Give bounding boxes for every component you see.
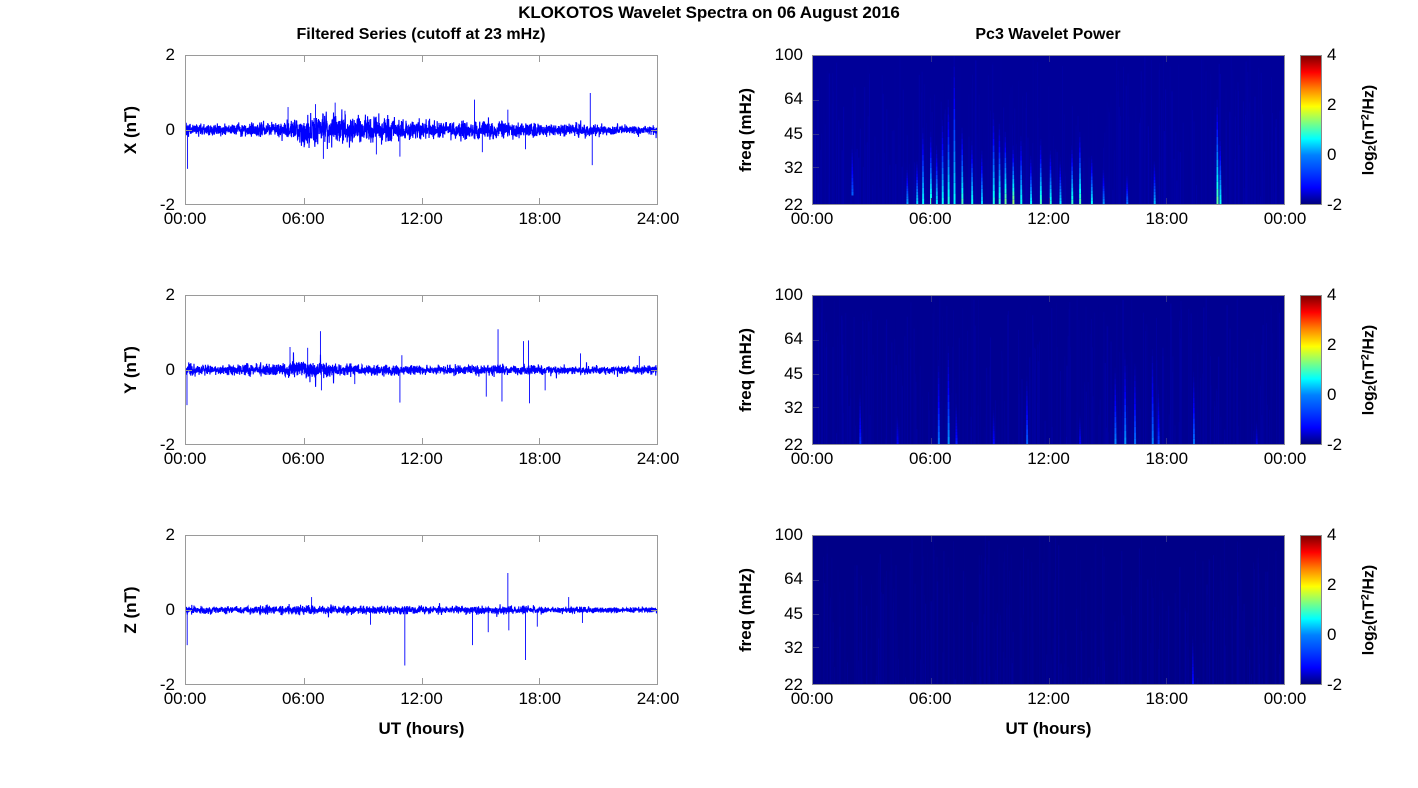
timeseries-axes-x (185, 55, 658, 205)
xtick-top (931, 56, 932, 62)
colorbar-label-y: log2(nT2/Hz) (1360, 325, 1379, 415)
xtick-bottom (422, 678, 423, 684)
timeseries-ylabel-x: X (nT) (121, 106, 141, 154)
colorbar-label-z: log2(nT2/Hz) (1360, 565, 1379, 655)
xtick-top (1166, 536, 1167, 542)
xtick-bottom (931, 438, 932, 444)
colorbar-tick-label: 2 (1327, 335, 1336, 355)
wavelet-image-y (813, 296, 1284, 444)
xtick-top (304, 536, 305, 542)
xtick-label: 18:00 (1145, 689, 1188, 709)
ytick-label: 0 (166, 600, 175, 620)
freq-tick-label: 45 (784, 364, 803, 384)
freq-tick-label: 64 (784, 89, 803, 109)
xtick-label: 00:00 (791, 449, 834, 469)
colorbar-tick-label: 2 (1327, 95, 1336, 115)
xtick-label: 12:00 (400, 689, 443, 709)
wavelet-ylabel-z: freq (mHz) (736, 568, 756, 652)
ytick-label: 2 (166, 525, 175, 545)
xtick-bottom (931, 678, 932, 684)
timeseries-trace-z (186, 536, 657, 684)
timeseries-xlabel: UT (hours) (379, 719, 465, 739)
ytick-left (813, 614, 819, 615)
ytick-left (813, 580, 819, 581)
xtick-bottom (1049, 438, 1050, 444)
xtick-label: 24:00 (637, 689, 680, 709)
xtick-top (1049, 296, 1050, 302)
xtick-label: 18:00 (1145, 209, 1188, 229)
colorbar-tick-label: 4 (1327, 45, 1336, 65)
timeseries-ylabel-z: Z (nT) (121, 586, 141, 633)
colorbar-tick-label: 0 (1327, 145, 1336, 165)
freq-tick-label: 64 (784, 569, 803, 589)
colorbar-tick-label: -2 (1327, 195, 1342, 215)
xtick-bottom (422, 438, 423, 444)
ytick-right (651, 130, 657, 131)
timeseries-ylabel-y: Y (nT) (121, 346, 141, 394)
xtick-bottom (539, 678, 540, 684)
xtick-label: 12:00 (1027, 689, 1070, 709)
colorbar-label-x: log2(nT2/Hz) (1360, 85, 1379, 175)
ytick-left (186, 370, 192, 371)
colorbar-tick-label: 0 (1327, 625, 1336, 645)
ytick-left (186, 130, 192, 131)
freq-tick-label: 100 (775, 45, 803, 65)
xtick-label: 00:00 (164, 689, 207, 709)
spike-group (187, 573, 582, 666)
xtick-label: 12:00 (400, 449, 443, 469)
xtick-bottom (1166, 438, 1167, 444)
xtick-top (539, 536, 540, 542)
wavelet-image-z (813, 536, 1284, 684)
left-column-title: Filtered Series (cutoff at 23 mHz) (297, 26, 546, 44)
ytick-left (186, 610, 192, 611)
freq-tick-label: 32 (784, 638, 803, 658)
freq-tick-label: 100 (775, 525, 803, 545)
colorbar-x (1300, 55, 1322, 205)
xtick-label: 12:00 (400, 209, 443, 229)
ytick-left (813, 407, 819, 408)
colorbar-tick-label: -2 (1327, 435, 1342, 455)
xtick-label: 18:00 (518, 209, 561, 229)
colorbar-z (1300, 535, 1322, 685)
freq-tick-label: 32 (784, 398, 803, 418)
xtick-bottom (539, 438, 540, 444)
xtick-top (1166, 296, 1167, 302)
xtick-label: 12:00 (1027, 209, 1070, 229)
xtick-label: 06:00 (909, 689, 952, 709)
xtick-bottom (539, 198, 540, 204)
freq-tick-label: 45 (784, 124, 803, 144)
colorbar-tick-label: 0 (1327, 385, 1336, 405)
xtick-label: 18:00 (518, 449, 561, 469)
ytick-label: 0 (166, 360, 175, 380)
xtick-label: 00:00 (791, 209, 834, 229)
right-column-title: Pc3 Wavelet Power (975, 26, 1120, 44)
xtick-label: 00:00 (164, 209, 207, 229)
xtick-bottom (1166, 678, 1167, 684)
ytick-left (813, 647, 819, 648)
xtick-top (539, 56, 540, 62)
ytick-label: 0 (166, 120, 175, 140)
xtick-label: 00:00 (1264, 689, 1307, 709)
ytick-left (813, 100, 819, 101)
wavelet-image-x (813, 56, 1284, 204)
xtick-top (1049, 56, 1050, 62)
timeseries-trace-x (186, 56, 657, 204)
ytick-left (813, 340, 819, 341)
xtick-label: 06:00 (909, 449, 952, 469)
timeseries-trace-y (186, 296, 657, 444)
figure-title: KLOKOTOS Wavelet Spectra on 06 August 20… (0, 3, 1418, 23)
wavelet-ylabel-x: freq (mHz) (736, 88, 756, 172)
wavelet-axes-x (812, 55, 1285, 205)
xtick-bottom (1166, 198, 1167, 204)
wavelet-xlabel: UT (hours) (1006, 719, 1092, 739)
xtick-top (1166, 56, 1167, 62)
figure-canvas: KLOKOTOS Wavelet Spectra on 06 August 20… (0, 0, 1418, 788)
xtick-label: 18:00 (518, 689, 561, 709)
colorbar-tick-label: 4 (1327, 285, 1336, 305)
ytick-left (813, 167, 819, 168)
xtick-bottom (304, 198, 305, 204)
xtick-bottom (1049, 678, 1050, 684)
xtick-top (422, 296, 423, 302)
xtick-label: 24:00 (637, 449, 680, 469)
timeseries-axes-y (185, 295, 658, 445)
xtick-top (931, 536, 932, 542)
xtick-label: 06:00 (282, 449, 325, 469)
ytick-label: 2 (166, 45, 175, 65)
xtick-top (539, 296, 540, 302)
ytick-right (651, 610, 657, 611)
xtick-label: 18:00 (1145, 449, 1188, 469)
freq-tick-label: 100 (775, 285, 803, 305)
xtick-label: 06:00 (282, 689, 325, 709)
xtick-top (422, 56, 423, 62)
wavelet-axes-z (812, 535, 1285, 685)
xtick-label: 00:00 (1264, 449, 1307, 469)
xtick-top (1049, 536, 1050, 542)
xtick-label: 24:00 (637, 209, 680, 229)
xtick-label: 06:00 (909, 209, 952, 229)
ytick-left (813, 374, 819, 375)
xtick-label: 00:00 (791, 689, 834, 709)
xtick-label: 00:00 (1264, 209, 1307, 229)
xtick-top (304, 56, 305, 62)
colorbar-y (1300, 295, 1322, 445)
ytick-left (813, 134, 819, 135)
colorbar-tick-label: 4 (1327, 525, 1336, 545)
xtick-label: 00:00 (164, 449, 207, 469)
ytick-label: 2 (166, 285, 175, 305)
xtick-bottom (304, 438, 305, 444)
xtick-bottom (422, 198, 423, 204)
xtick-top (304, 296, 305, 302)
xtick-bottom (1049, 198, 1050, 204)
colorbar-tick-label: 2 (1327, 575, 1336, 595)
wavelet-axes-y (812, 295, 1285, 445)
wavelet-ylabel-y: freq (mHz) (736, 328, 756, 412)
freq-tick-label: 64 (784, 329, 803, 349)
xtick-top (422, 536, 423, 542)
xtick-bottom (304, 678, 305, 684)
xtick-label: 12:00 (1027, 449, 1070, 469)
xtick-label: 06:00 (282, 209, 325, 229)
colorbar-tick-label: -2 (1327, 675, 1342, 695)
timeseries-axes-z (185, 535, 658, 685)
freq-tick-label: 32 (784, 158, 803, 178)
freq-tick-label: 45 (784, 604, 803, 624)
ytick-right (651, 370, 657, 371)
xtick-top (931, 296, 932, 302)
xtick-bottom (931, 198, 932, 204)
